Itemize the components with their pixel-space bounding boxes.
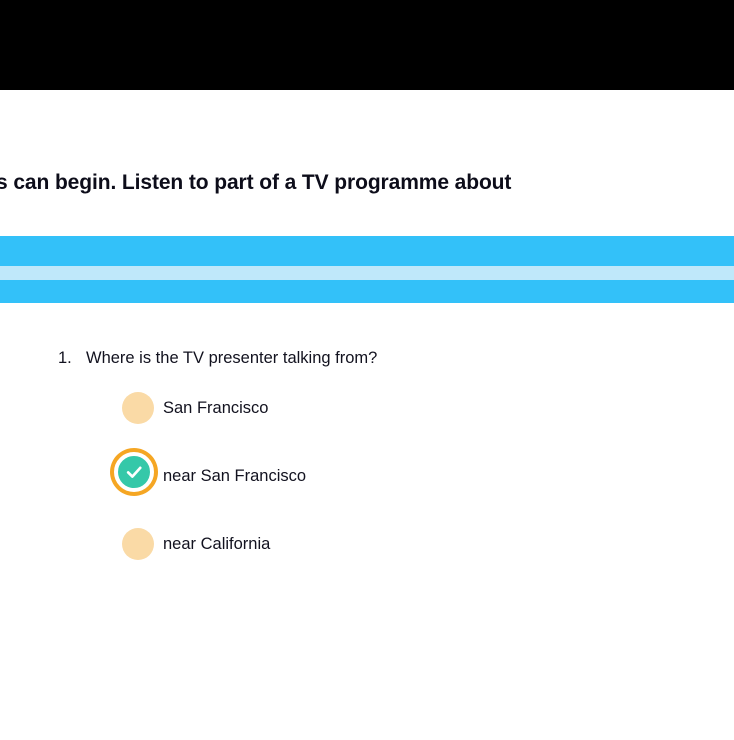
answer-option-label: near San Francisco — [163, 454, 306, 498]
lesson-heading: ere earthquakes can begin. Listen to par… — [0, 160, 734, 206]
radio-unselected-icon[interactable] — [122, 528, 154, 560]
answer-option-selected[interactable]: near San Francisco — [0, 454, 734, 522]
question-row: 1. Where is the TV presenter talking fro… — [0, 340, 734, 376]
divider-rule-bottom — [0, 280, 734, 303]
radio-selected-check-icon[interactable] — [114, 452, 154, 492]
answer-option[interactable]: near California — [0, 522, 734, 590]
divider-rule-light — [0, 266, 734, 280]
answer-option[interactable]: San Francisco — [0, 386, 734, 454]
lesson-heading-text: ere earthquakes can begin. Listen to par… — [0, 160, 511, 206]
question-block: 1. Where is the TV presenter talking fro… — [0, 340, 734, 376]
answer-options-list: San Francisco near San Francisco near Ca… — [0, 386, 734, 590]
divider-rule-top — [0, 236, 734, 266]
question-text: Where is the TV presenter talking from? — [86, 340, 377, 376]
check-icon — [124, 462, 144, 482]
question-number: 1. — [58, 340, 72, 376]
answer-option-label: near California — [163, 522, 270, 566]
top-black-banner — [0, 0, 734, 90]
radio-unselected-icon[interactable] — [122, 392, 154, 424]
answer-option-label: San Francisco — [163, 386, 268, 430]
